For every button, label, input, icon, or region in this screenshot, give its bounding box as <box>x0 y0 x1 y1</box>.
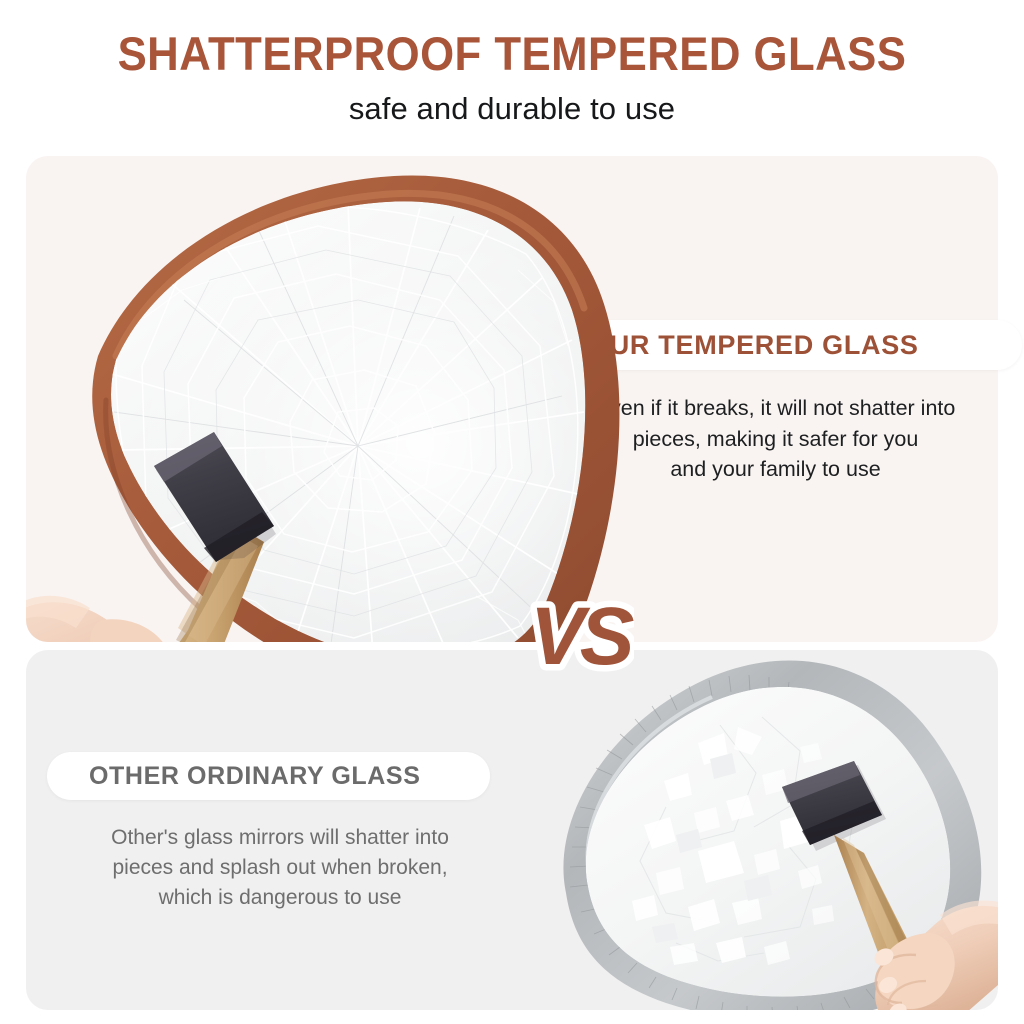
tempered-glass-mirror-illustration <box>6 150 586 650</box>
svg-text:VS: VS <box>530 591 634 682</box>
versus-badge: VS VS <box>524 586 634 686</box>
tempered-glass-description: Even if it breaks, it will not shatter i… <box>553 393 998 485</box>
ordinary-glass-label: OTHER ORDINARY GLASS <box>89 762 420 791</box>
ordinary-glass-mirror-illustration <box>548 655 1024 1024</box>
ordinary-glass-label-pill: OTHER ORDINARY GLASS <box>47 752 490 800</box>
page-title: SHATTERPROOF TEMPERED GLASS <box>36 29 988 78</box>
ordinary-glass-description: Other's glass mirrors will shatter into … <box>60 823 500 912</box>
tempered-glass-label: OUR TEMPERED GLASS <box>588 330 919 361</box>
page-subtitle: safe and durable to use <box>0 90 1024 127</box>
page-header: SHATTERPROOF TEMPERED GLASS safe and dur… <box>0 0 1024 150</box>
